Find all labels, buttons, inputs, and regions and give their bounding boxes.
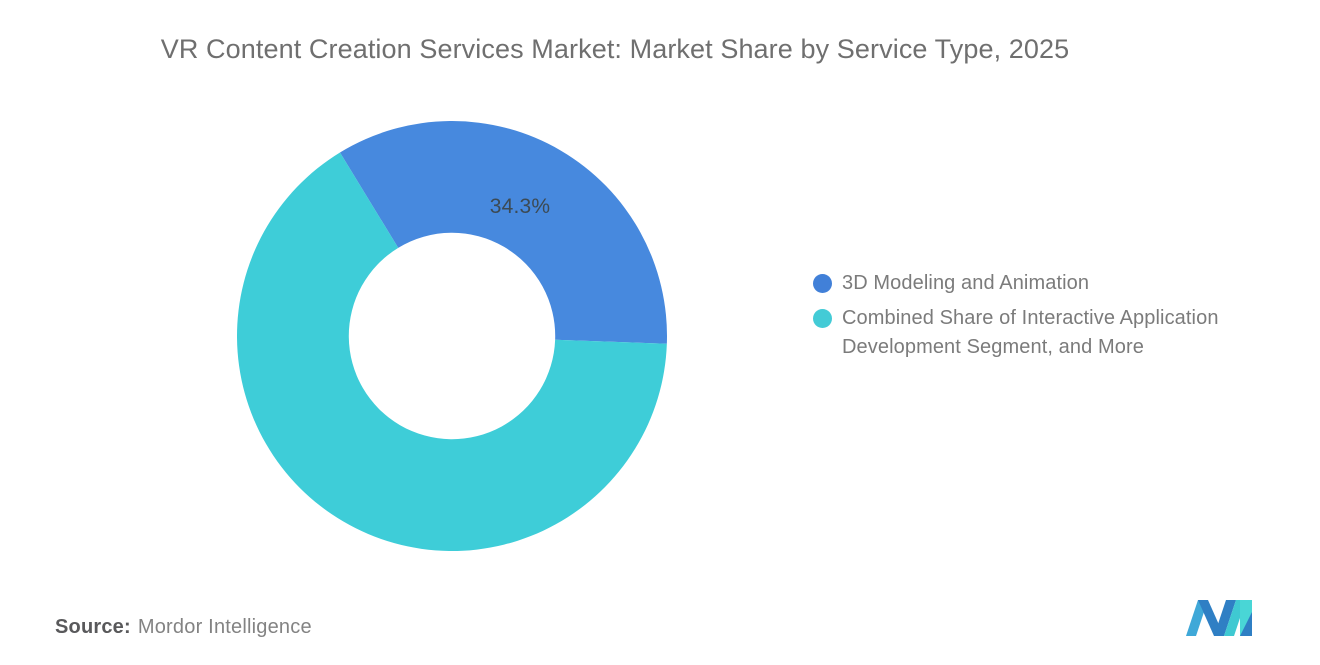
legend-item-3d-modeling[interactable]: 3D Modeling and Animation: [813, 269, 1293, 298]
legend-item-label: 3D Modeling and Animation: [842, 269, 1089, 298]
mordor-intelligence-logo-icon: [1184, 598, 1256, 638]
source-label: Source:: [55, 616, 131, 638]
source-line: Source:Mordor Intelligence: [55, 613, 312, 641]
legend-swatch-icon: [813, 274, 832, 293]
donut-slice[interactable]: [340, 121, 667, 344]
legend-item-label: Combined Share of Interactive Applicatio…: [842, 304, 1293, 362]
legend-swatch-icon: [813, 309, 832, 328]
donut-chart: [237, 121, 667, 551]
chart-legend: 3D Modeling and Animation Combined Share…: [813, 269, 1293, 368]
donut-slice-group: [237, 121, 667, 551]
source-value: Mordor Intelligence: [138, 616, 312, 638]
legend-item-combined-share[interactable]: Combined Share of Interactive Applicatio…: [813, 304, 1293, 362]
chart-title: VR Content Creation Services Market: Mar…: [0, 32, 1320, 66]
chart-canvas: VR Content Creation Services Market: Mar…: [0, 0, 1320, 665]
donut-svg: [237, 121, 667, 551]
